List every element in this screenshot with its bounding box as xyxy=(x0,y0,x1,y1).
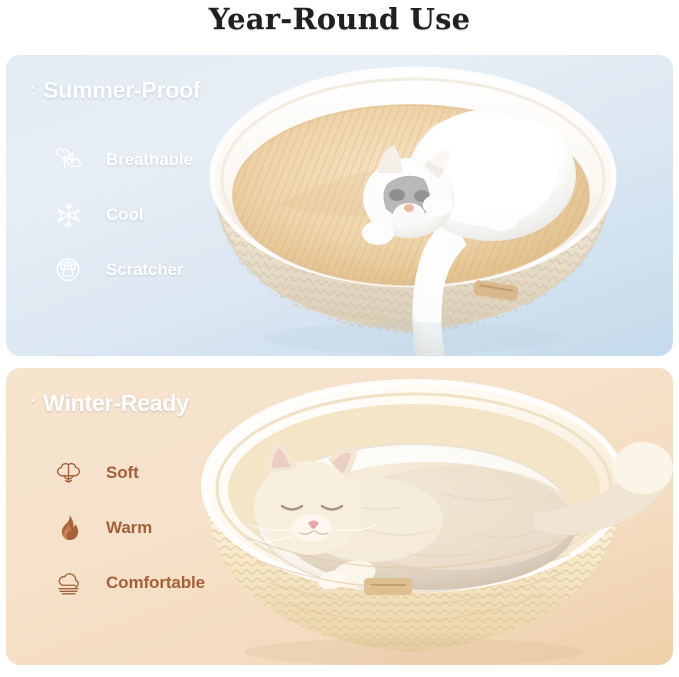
feature-comfortable: Comfortable xyxy=(52,566,205,600)
heading-winter-label: Winter-Ready xyxy=(43,390,189,417)
feature-breathable-label: Breathable xyxy=(106,150,193,170)
cotton-flower-icon xyxy=(52,457,84,489)
flame-icon xyxy=(52,512,84,544)
panel-winter-ready: · Winter-Ready Soft xyxy=(6,368,673,665)
product-photo-summer xyxy=(156,55,673,356)
pillow-icon xyxy=(52,567,84,599)
heading-winter: · Winter-Ready xyxy=(30,390,189,417)
bullet-dot: · xyxy=(30,79,36,98)
feature-breathable: Breathable xyxy=(52,143,193,177)
bullet-dot: · xyxy=(30,392,36,411)
feature-cool-label: Cool xyxy=(106,205,143,225)
heading-summer-label: Summer-Proof xyxy=(43,77,200,104)
feature-scratcher: Scratcher xyxy=(52,253,193,287)
feature-list-summer: Breathable Cool xyxy=(52,143,193,308)
feature-soft-label: Soft xyxy=(106,463,139,483)
feature-warm-label: Warm xyxy=(106,518,152,538)
feature-comfortable-label: Comfortable xyxy=(106,573,205,593)
feature-cool: Cool xyxy=(52,198,193,232)
feature-scratcher-label: Scratcher xyxy=(106,260,184,280)
snowflake-icon xyxy=(52,199,84,231)
feature-soft: Soft xyxy=(52,456,205,490)
panel-summer-proof: · Summer-Proof Breathable xyxy=(6,55,673,356)
product-photo-winter xyxy=(156,368,673,665)
feature-list-winter: Soft Warm xyxy=(52,456,205,621)
breathable-icon xyxy=(52,144,84,176)
heading-summer: · Summer-Proof xyxy=(30,77,200,104)
paw-icon xyxy=(52,254,84,286)
feature-warm: Warm xyxy=(52,511,205,545)
infographic-page: Year-Round Use xyxy=(0,0,679,677)
page-title: Year-Round Use xyxy=(0,2,679,36)
